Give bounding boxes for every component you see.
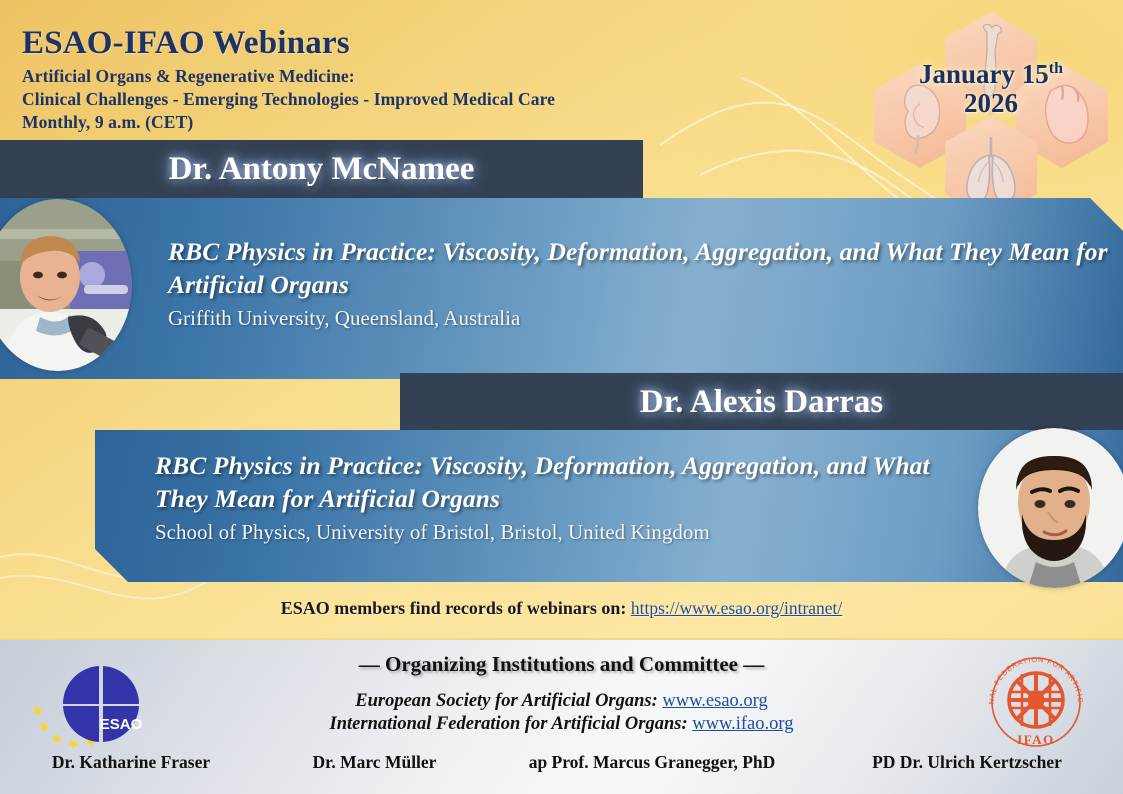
ifao-logo-text: IFAO (1017, 732, 1055, 747)
esao-website-link[interactable]: www.esao.org (662, 691, 767, 711)
ifao-wheel-emblem (1009, 673, 1063, 727)
webinar-poster: ESAO-IFAO Webinars Artificial Organs & R… (0, 0, 1123, 794)
records-line: ESAO members find records of webinars on… (0, 598, 1123, 619)
header-subtitle-line-3: Monthly, 9 a.m. (CET) (22, 111, 722, 134)
esao-logo: ESAO (20, 658, 182, 750)
esao-intranet-link[interactable]: https://www.esao.org/intranet/ (631, 598, 842, 618)
speaker-name-1: Dr. Antony McNamee (169, 151, 475, 188)
talk-title-2: RBC Physics in Practice: Viscosity, Defo… (155, 450, 975, 515)
footer-org-ifao-label: International Federation for Artificial … (330, 714, 688, 734)
date-month-day: January 15 (919, 59, 1049, 89)
talk-affiliation-2: School of Physics, University of Bristol… (155, 519, 975, 546)
speaker-name-2: Dr. Alexis Darras (640, 384, 884, 421)
talk-title-1: RBC Physics in Practice: Viscosity, Defo… (168, 236, 1113, 301)
poster-header: ESAO-IFAO Webinars Artificial Organs & R… (22, 26, 722, 134)
esao-logo-text: ESAO (100, 716, 143, 733)
webinar-date: January 15th 2026 (866, 60, 1116, 117)
talk-info-1: RBC Physics in Practice: Viscosity, Defo… (168, 236, 1113, 333)
committee-row: Dr. Katharine Fraser Dr. Marc Müller ap … (0, 752, 1123, 773)
speaker-name-bar-2: Dr. Alexis Darras Dr. Alexis Darras (400, 373, 1123, 431)
date-badge: January 15th 2026 (866, 8, 1116, 193)
talk-info-2: RBC Physics in Practice: Viscosity, Defo… (155, 450, 975, 547)
ifao-website-link[interactable]: www.ifao.org (692, 714, 793, 734)
page-title: ESAO-IFAO Webinars (22, 26, 722, 61)
date-year: 2026 (964, 88, 1018, 118)
speaker-name-bar-1: Dr. Antony McNamee Dr. Antony McNamee (0, 140, 643, 198)
talk-affiliation-1: Griffith University, Queensland, Austral… (168, 305, 1113, 332)
committee-member-2: Dr. Marc Müller (262, 752, 487, 773)
header-subtitle-line-1: Artificial Organs & Regenerative Medicin… (22, 65, 722, 88)
header-subtitle-line-2: Clinical Challenges - Emerging Technolog… (22, 88, 722, 111)
committee-member-1: Dr. Katharine Fraser (0, 752, 262, 773)
committee-member-4: PD Dr. Ulrich Kertzscher (817, 752, 1117, 773)
date-ordinal: th (1049, 60, 1063, 77)
ifao-logo: INTERNATIONAL FEDERATION FOR ARTIFICIAL … (982, 650, 1090, 750)
avatar-speaker-2 (978, 428, 1123, 588)
committee-member-3: ap Prof. Marcus Granegger, PhD (487, 752, 817, 773)
records-label: ESAO members find records of webinars on… (281, 598, 627, 618)
footer-org-esao-label: European Society for Artificial Organs: (355, 691, 658, 711)
lungs-illustration (956, 128, 1026, 207)
